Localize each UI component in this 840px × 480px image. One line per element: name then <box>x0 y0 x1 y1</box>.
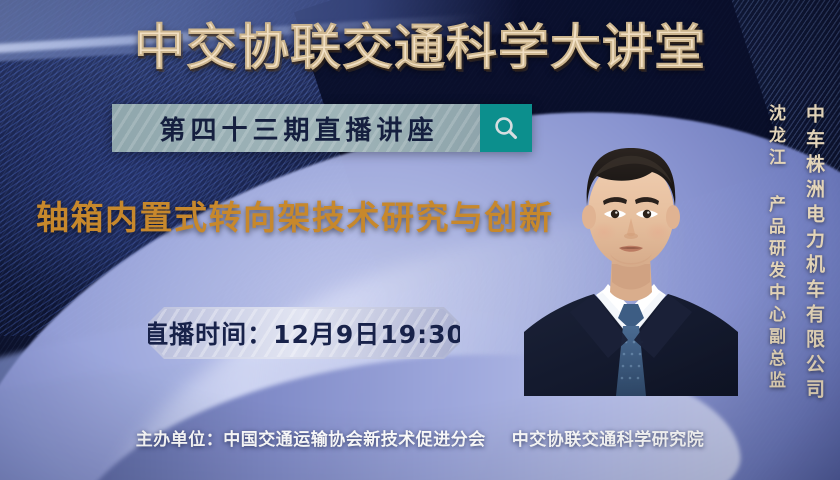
episode-label: 第四十三期直播讲座 <box>153 110 438 147</box>
speaker-name-role: 沈龙江 产品研发中心副总监 <box>763 104 788 393</box>
live-time-text: 直播时间：12月9日19:30 <box>143 315 465 351</box>
lecture-title: 轴箱内置式转向架技术研究与创新 <box>36 196 554 240</box>
search-icon[interactable] <box>480 104 532 152</box>
portrait-illustration <box>524 96 738 396</box>
footer-organizer-1: 中国交通运输协会新技术促进分会 <box>223 430 486 450</box>
episode-banner-body: 第四十三期直播讲座 <box>112 104 480 152</box>
live-time-badge: 直播时间：12月9日19:30 <box>148 307 460 359</box>
page-title: 中交协联交通科学大讲堂 <box>0 18 840 78</box>
speaker-company: 中车株洲电力机车有限公司 <box>801 104 828 404</box>
search-icon-glyph <box>492 114 520 142</box>
footer-organizers: 主办单位：中国交通运输协会新技术促进分会中交协联交通科学研究院 <box>0 425 840 450</box>
live-lecture-poster: 中交协联交通科学大讲堂 第四十三期直播讲座 轴箱内置式转向架技术研究与创新 直播… <box>0 0 840 480</box>
footer-organizer-2: 中交协联交通科学研究院 <box>512 430 705 450</box>
speaker-portrait <box>524 96 738 396</box>
footer-prefix: 主办单位： <box>136 430 224 450</box>
episode-banner: 第四十三期直播讲座 <box>112 104 532 152</box>
